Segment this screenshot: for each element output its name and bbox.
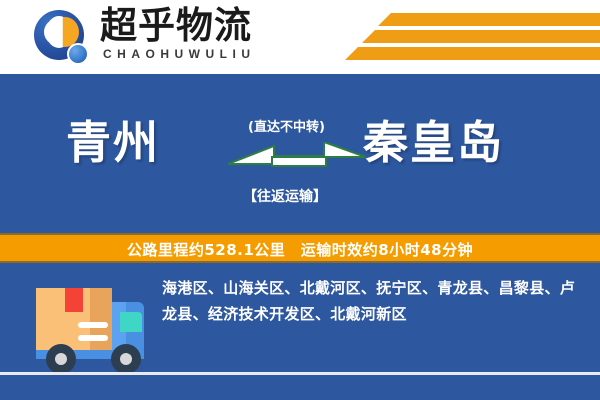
logistics-route-banner: 超乎物流 CHAOHUWULIU 青州 (直达不中转) 【往返运输】 秦皇岛 (0, 0, 600, 400)
logo-small-dot (67, 43, 89, 65)
brand-name-en: CHAOHUWULIU (103, 47, 256, 61)
banner-header: 超乎物流 CHAOHUWULIU (0, 0, 600, 74)
roundtrip-transport-note: 【往返运输】 (243, 186, 327, 206)
delivery-truck-icon (28, 274, 158, 379)
distance-duration-text: 公路里程约528.1公里 运输时效约8小时48分钟 (0, 235, 600, 265)
destination-city: 秦皇岛 (363, 106, 504, 171)
chaohu-circle-logo-icon (34, 10, 92, 68)
orange-speed-stripe-1 (378, 13, 600, 26)
orange-speed-stripe-3 (345, 47, 600, 60)
distance-duration-bar: 公路里程约528.1公里 运输时效约8小时48分钟 (0, 233, 600, 263)
double-headed-arrow-icon (228, 142, 366, 178)
main-blue-panel: 青州 (直达不中转) 【往返运输】 秦皇岛 公路里程约528.1公里 运输时效约… (0, 74, 600, 400)
bottom-divider (0, 372, 600, 375)
coverage-districts-text: 海港区、山海关区、北戴河区、抚宁区、青龙县、昌黎县、卢龙县、经济技术开发区、北戴… (162, 275, 587, 327)
direct-transport-note: (直达不中转) (248, 116, 325, 135)
brand-name-cn: 超乎物流 (100, 6, 252, 46)
route-area: 青州 (直达不中转) 【往返运输】 秦皇岛 (0, 74, 600, 233)
orange-speed-stripe-2 (362, 30, 600, 43)
origin-city: 青州 (66, 106, 160, 171)
